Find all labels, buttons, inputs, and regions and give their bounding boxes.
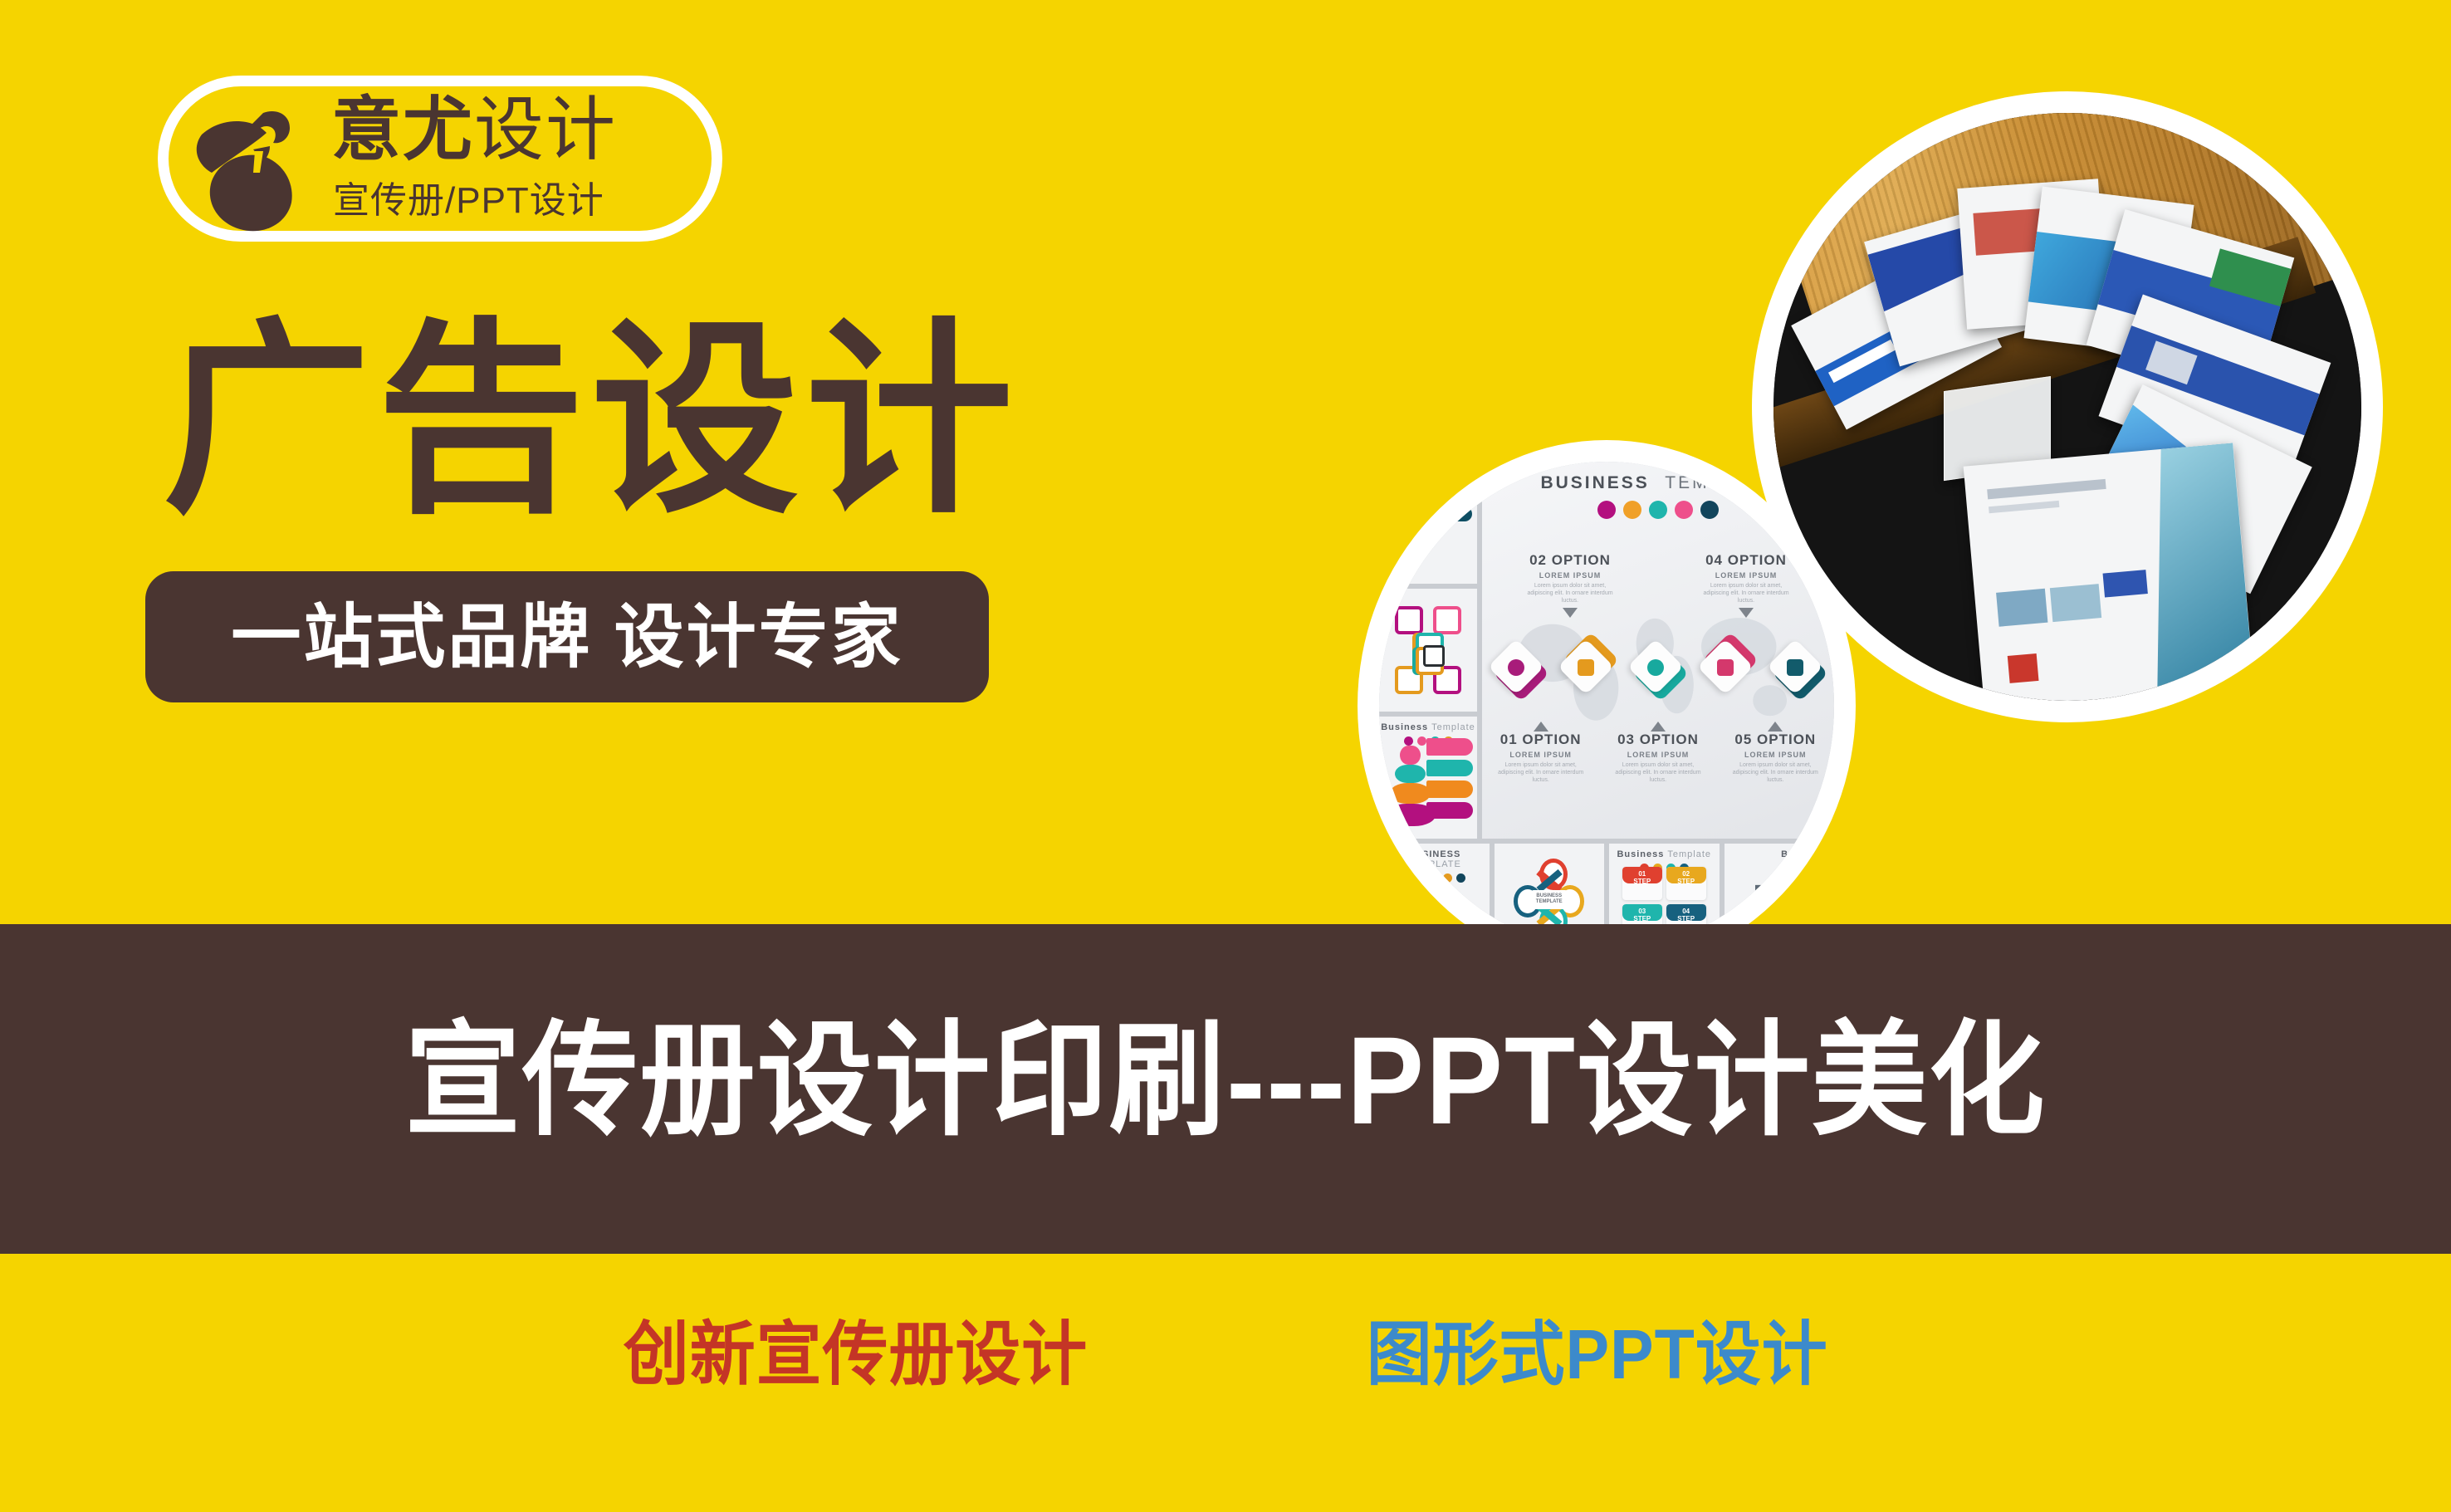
feature-brochure-design: 创新宣传册设计 (624, 1314, 1088, 1394)
cross-icon-layout (1395, 606, 1461, 694)
option-number: 02 OPTION (1523, 552, 1617, 569)
thumb-banner-ribbon (1379, 462, 1477, 584)
option-subtitle: LOREM IPSUM (1728, 751, 1822, 759)
step-label: 04STEP (1666, 904, 1706, 921)
arrow-down-icon (1739, 608, 1754, 618)
step-label: 02STEP (1666, 867, 1706, 883)
brand-name-bold: 意尤 (331, 91, 474, 169)
option-number: 03 OPTION (1611, 732, 1705, 748)
step-card-01: 01STEP (1622, 867, 1662, 900)
band-headline: 宣传册设计印刷---PPT设计美化 (86, 1010, 2365, 1151)
collage-left-column: Business Template (1379, 462, 1477, 839)
advertising-banner: 意尤设计 宣传册/PPT设计 广告设计 一站式品牌 设计专家 (0, 0, 2451, 1512)
main-slide-options-bottom: 01 OPTION LOREM IPSUM Lorem ipsum dolor … (1482, 718, 1834, 784)
thumb-cross-icon-grid (1379, 589, 1477, 711)
option-02: 02 OPTION LOREM IPSUM Lorem ipsum dolor … (1523, 552, 1617, 618)
arrow-up-icon (1651, 722, 1666, 732)
tagline-badge-label: 一站式品牌 设计专家 (231, 599, 903, 675)
arrow-up-icon (1534, 722, 1548, 732)
brand-subtitle: 宣传册/PPT设计 (333, 179, 604, 223)
thumb-title: BUSINESS TEMPLATE (1379, 849, 1490, 869)
feature-row: 创新宣传册设计 图形式PPT设计 (0, 1292, 2451, 1417)
medallion-ppt-templates-image: Business Template (1379, 462, 1834, 950)
brand-name: 意尤设计 (331, 90, 617, 169)
brochure-photo-scene (1773, 113, 2361, 701)
brand-logo: 意尤设计 宣传册/PPT设计 (158, 76, 722, 242)
diamond-03 (1636, 647, 1680, 692)
option-subtitle: LOREM IPSUM (1493, 751, 1588, 759)
option-number: 01 OPTION (1493, 732, 1588, 748)
option-body: Lorem ipsum dolor sit amet, adipiscing e… (1523, 582, 1617, 604)
step-card-02: 02STEP (1666, 867, 1706, 900)
thumb-title: Business (1725, 849, 1835, 859)
arrow-label: 06 (1773, 886, 1782, 895)
option-number: 05 OPTION (1728, 732, 1822, 748)
medallion-printed-brochures-image (1773, 113, 2361, 701)
option-01: 01 OPTION LOREM IPSUM Lorem ipsum dolor … (1493, 718, 1588, 784)
diamond-01 (1496, 647, 1541, 692)
step-label: 03STEP (1622, 904, 1662, 921)
diamond-04 (1705, 647, 1750, 692)
option-subtitle: LOREM IPSUM (1523, 571, 1617, 580)
arrow-up-icon (1768, 722, 1783, 732)
page-title: 广告设计 (163, 309, 1020, 533)
feature-ppt-design: 图形式PPT设计 (1367, 1314, 1828, 1394)
option-body: Lorem ipsum dolor sit amet, adipiscing e… (1728, 761, 1822, 784)
thumb-dots (1379, 873, 1490, 883)
option-body: Lorem ipsum dolor sit amet, adipiscing e… (1611, 761, 1705, 784)
medallion-printed-brochures (1752, 91, 2383, 722)
option-subtitle: LOREM IPSUM (1611, 751, 1705, 759)
brand-name-thin: 设计 (474, 91, 617, 169)
diamond-icon-row (1496, 631, 1820, 707)
thumb-pyramid-funnel: Business Template (1379, 717, 1477, 839)
tagline-badge: 一站式品牌 设计专家 (145, 571, 989, 702)
arrow-down-icon (1563, 608, 1578, 618)
thumb-title: Business Template (1379, 722, 1477, 732)
funnel-label-bars (1426, 738, 1474, 819)
main-slide-title-bold: BUSINESS (1540, 473, 1649, 492)
option-05: 05 OPTION LOREM IPSUM Lorem ipsum dolor … (1728, 718, 1822, 784)
foreground-brochure (1963, 443, 2253, 701)
option-body: Lorem ipsum dolor sit amet, adipiscing e… (1493, 761, 1588, 784)
thumb-title: Business Template (1609, 849, 1720, 859)
thumb-label: 04 OPTION (1379, 890, 1490, 898)
ppt-template-collage: Business Template (1379, 462, 1834, 950)
network-center-label: BUSINESS TEMPLATE (1531, 890, 1568, 909)
bird-leaf-logo-mark (183, 96, 323, 239)
step-label: 01STEP (1622, 867, 1662, 883)
diamond-02 (1566, 647, 1611, 692)
option-03: 03 OPTION LOREM IPSUM Lorem ipsum dolor … (1611, 718, 1705, 784)
